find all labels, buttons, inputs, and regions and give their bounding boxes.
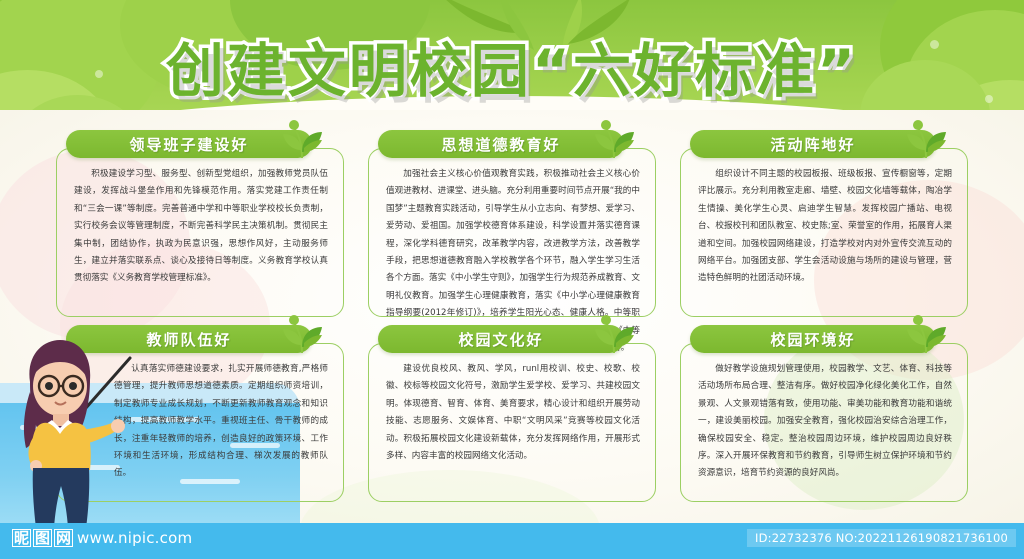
panel-header-ideology-moral[interactable]: 思想道德教育好 bbox=[378, 130, 624, 158]
panel-body-activity-position: 组织设计不同主题的校园板报、班级板报、宣传橱窗等，定期评比展示。充分利用教室走廊… bbox=[698, 166, 952, 288]
sprout-icon bbox=[592, 118, 638, 162]
panel-header-activity-position[interactable]: 活动阵地好 bbox=[690, 130, 936, 158]
sprout-icon bbox=[904, 313, 950, 357]
panels-grid: 领导班子建设好 积极建设学习型、服务型、创新型党组织，加强教师党员队伍建设，发挥… bbox=[56, 130, 968, 510]
panel-header-label: 校园环境好 bbox=[770, 329, 855, 350]
watermark-logo-cn: 昵 图 网 bbox=[12, 529, 73, 547]
panel-header-label: 活动阵地好 bbox=[770, 134, 855, 155]
panel-header-label: 教师队伍好 bbox=[146, 329, 231, 350]
panel-body-leadership: 积极建设学习型、服务型、创新型党组织，加强教师党员队伍建设，发挥战斗堡垒作用和先… bbox=[74, 166, 328, 288]
image-id-label: ID:22732376 NO:20221126190821736100 bbox=[747, 529, 1016, 547]
sprout-icon bbox=[280, 313, 326, 357]
watermark-char-2: 图 bbox=[33, 529, 52, 547]
panel-leadership: 领导班子建设好 积极建设学习型、服务型、创新型党组织，加强教师党员队伍建设，发挥… bbox=[56, 130, 344, 325]
panel-header-leadership[interactable]: 领导班子建设好 bbox=[66, 130, 312, 158]
watermark-char-3: 网 bbox=[54, 529, 73, 547]
teacher-illustration bbox=[8, 330, 138, 535]
sprout-icon bbox=[592, 313, 638, 357]
panel-header-campus-environment[interactable]: 校园环境好 bbox=[690, 325, 936, 353]
poster-stage: 创建文明校园“六好标准” 领导班子建设好 积极建设学习型、服务型、创新型党组织，… bbox=[0, 0, 1024, 559]
panel-body-campus-culture: 建设优良校风、教风、学风，runl用校训、校史、校歌、校徽、校标等校园文化符号，… bbox=[386, 361, 640, 465]
panel-body-campus-environment: 做好教学设施规划管理使用，校园教学、文艺、体育、科技等活动场所布局合理、整洁有序… bbox=[698, 361, 952, 483]
teacher-hand bbox=[111, 419, 125, 433]
panel-campus-environment: 校园环境好 做好教学设施规划管理使用，校园教学、文艺、体育、科技等活动场所布局合… bbox=[680, 325, 968, 510]
poster-title: 创建文明校园“六好标准” bbox=[166, 24, 858, 108]
panel-header-label: 校园文化好 bbox=[458, 329, 543, 350]
footer-bar: 昵 图 网 www.nipic.com ID:22732376 NO:20221… bbox=[0, 523, 1024, 559]
watermark: 昵 图 网 www.nipic.com bbox=[12, 529, 192, 547]
panel-header-campus-culture[interactable]: 校园文化好 bbox=[378, 325, 624, 353]
sprout-icon bbox=[904, 118, 950, 162]
panel-body-teacher-team: 认真落实师德建设要求，扎实开展师德教育,严格师德管理，提升教师思想道德素质。定期… bbox=[114, 361, 328, 483]
sprout-icon bbox=[280, 118, 326, 162]
panel-header-label: 思想道德教育好 bbox=[441, 134, 560, 155]
poster-title-container: 创建文明校园“六好标准” bbox=[0, 26, 1024, 106]
panel-ideology-moral: 思想道德教育好 加强社会主义核心价值观教育实践，积极推动社会主义核心价值观进教材… bbox=[368, 130, 656, 325]
panel-campus-culture: 校园文化好 建设优良校风、教风、学风，runl用校训、校史、校歌、校徽、校标等校… bbox=[368, 325, 656, 510]
watermark-char-1: 昵 bbox=[12, 529, 31, 547]
panel-activity-position: 活动阵地好 组织设计不同主题的校园板报、班级板报、宣传橱窗等，定期评比展示。充分… bbox=[680, 130, 968, 325]
panel-header-label: 领导班子建设好 bbox=[129, 134, 248, 155]
watermark-url: www.nipic.com bbox=[77, 529, 192, 547]
teacher-pants bbox=[33, 468, 90, 528]
